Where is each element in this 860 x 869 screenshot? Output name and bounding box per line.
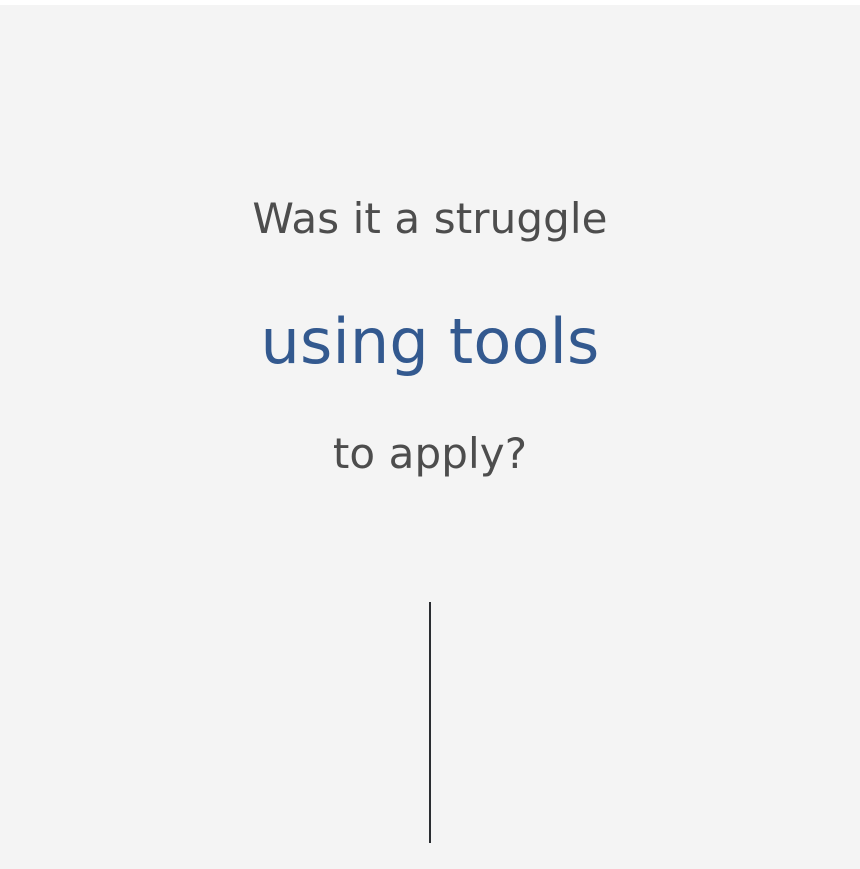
top-edge-band	[0, 0, 860, 5]
question-line-lead: Was it a struggle	[0, 191, 860, 247]
question-line-tail: to apply?	[0, 426, 860, 482]
question-line-emphasis: using tools	[0, 300, 860, 384]
vertical-divider-rule	[429, 602, 431, 843]
poll-question-screen: Was it a struggle using tools to apply?	[0, 0, 860, 869]
